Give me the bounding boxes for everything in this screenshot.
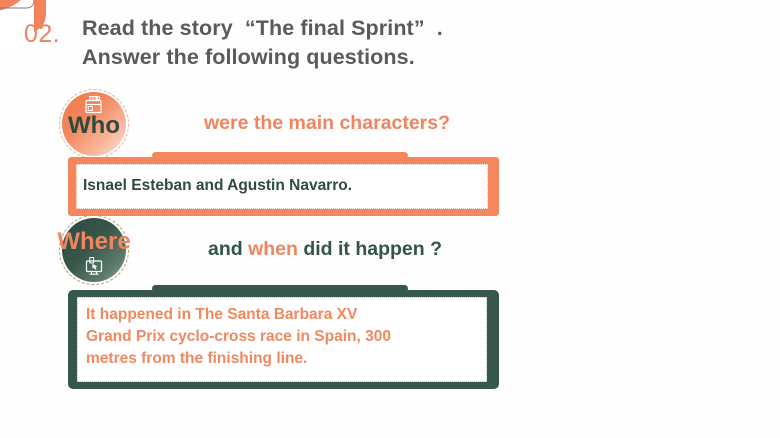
answer-box-who: Isnael Esteban and Agustin Navarro. — [68, 152, 499, 216]
answer-box-where: It happened in The Santa Barbara XV Gran… — [68, 285, 499, 389]
badge-where: Where — [62, 218, 126, 282]
question-row-who: Who were the main characters? — [62, 92, 450, 156]
slide-number: 02. — [24, 22, 60, 47]
question-where-highlight: when — [248, 238, 298, 260]
question-row-where: Where and when did it happen ? — [62, 218, 442, 282]
question-where-pre: and — [208, 238, 248, 260]
page-title-line-1: Read the story “The final Sprint” . — [82, 14, 722, 43]
answer-who-text: Isnael Esteban and Agustin Navarro. — [83, 175, 352, 197]
answer-who-inner: Isnael Esteban and Agustin Navarro. — [76, 164, 488, 209]
answer-where-text: It happened in The Santa Barbara XV Gran… — [86, 304, 391, 370]
badge-who: Who — [62, 92, 126, 156]
badge-who-word: Who — [68, 114, 120, 138]
slide-canvas: 02. Read the story “The final Sprint” . … — [0, 0, 780, 438]
question-where-post: did it happen ? — [298, 238, 442, 260]
desktop-monitor-click-icon — [82, 255, 106, 277]
page-title-line-2: Answer the following questions. — [82, 43, 722, 72]
question-text-where: and when did it happen ? — [208, 240, 442, 260]
badge-where-word: Where — [57, 230, 130, 254]
answer-where-inner: It happened in The Santa Barbara XV Gran… — [77, 297, 487, 382]
page-title: Read the story “The final Sprint” . Answ… — [82, 14, 722, 71]
question-text-who: were the main characters? — [204, 114, 450, 134]
